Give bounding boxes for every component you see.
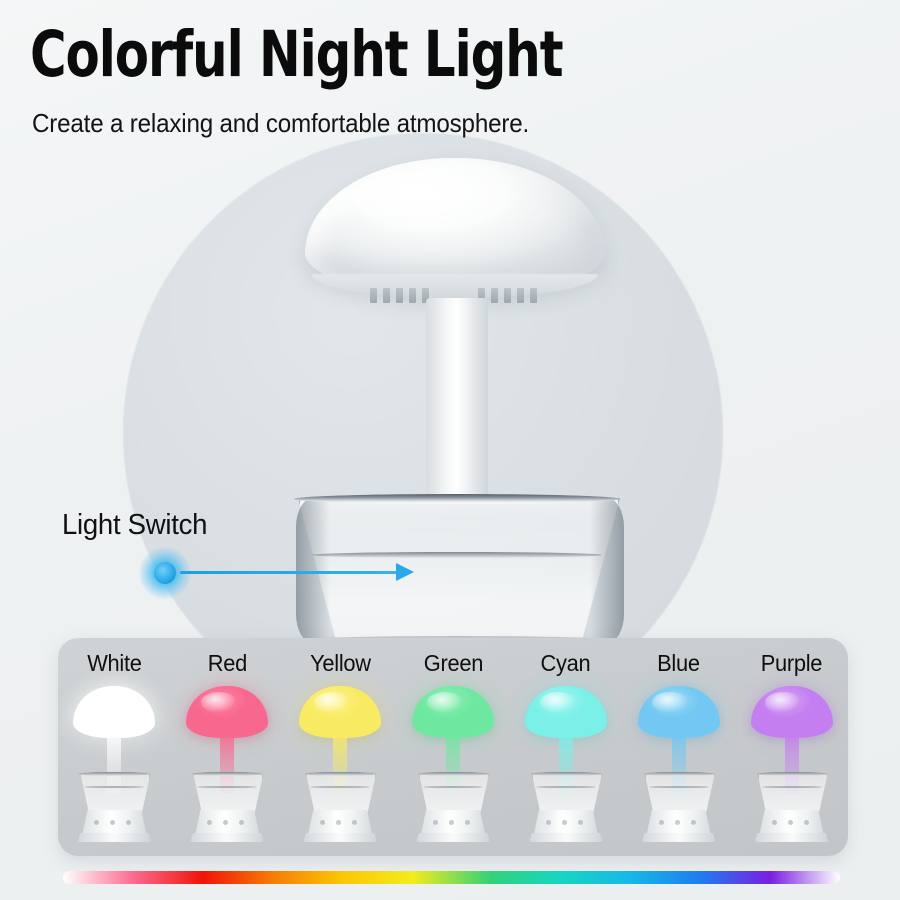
mini-wl <box>84 786 144 788</box>
mini-humidifier <box>290 686 390 846</box>
mini-wl <box>310 786 370 788</box>
page-subtitle: Create a relaxing and comfortable atmosp… <box>32 108 813 139</box>
mini-humidifier <box>403 686 503 846</box>
color-swatch-label: White <box>61 650 168 677</box>
color-swatch-green[interactable]: Green <box>397 638 510 856</box>
mini-wl <box>536 786 596 788</box>
mini-rim <box>191 772 263 776</box>
mini-rim <box>530 772 602 776</box>
mini-tank <box>306 774 376 812</box>
mini-wl <box>423 786 483 788</box>
mini-foot <box>755 833 829 842</box>
mini-tank <box>532 774 602 812</box>
mini-foot <box>642 833 716 842</box>
cloud-cap <box>305 158 605 293</box>
mini-tank <box>419 774 489 812</box>
color-swatch-cyan[interactable]: Cyan <box>509 638 622 856</box>
mini-tank <box>193 774 263 812</box>
mini-rim <box>756 772 828 776</box>
mini-humidifier <box>64 686 164 846</box>
page-title: Colorful Night Light <box>30 22 769 89</box>
mini-tank <box>80 774 150 812</box>
mini-cap <box>412 686 494 738</box>
color-swatch-label: Green <box>399 650 506 677</box>
color-swatch-label: Blue <box>625 650 732 677</box>
mini-wl <box>762 786 822 788</box>
mini-tank <box>645 774 715 812</box>
product-feature-image: Colorful Night Light Create a relaxing a… <box>0 0 900 900</box>
mini-cap <box>73 686 155 738</box>
mini-foot <box>529 833 603 842</box>
color-swatch-panel: WhiteRedYellowGreenCyanBluePurple <box>58 638 848 856</box>
mini-humidifier <box>177 686 277 846</box>
mini-foot <box>190 833 264 842</box>
mini-control-dots <box>207 820 247 826</box>
mini-cap <box>638 686 720 738</box>
color-swatch-label: Cyan <box>512 650 619 677</box>
callout-line <box>180 571 402 574</box>
water-level-line <box>312 552 602 558</box>
light-switch-label: Light Switch <box>62 509 207 542</box>
mini-rim <box>78 772 150 776</box>
mini-control-dots <box>772 820 812 826</box>
mini-rim <box>304 772 376 776</box>
mini-humidifier <box>629 686 729 846</box>
mini-cap <box>751 686 833 738</box>
mini-foot <box>303 833 377 842</box>
mini-rim <box>417 772 489 776</box>
mini-humidifier <box>516 686 616 846</box>
mini-rim <box>643 772 715 776</box>
mini-cap <box>299 686 381 738</box>
mini-control-dots <box>546 820 586 826</box>
mini-tank <box>758 774 828 812</box>
mini-foot <box>77 833 151 842</box>
mini-control-dots <box>433 820 473 826</box>
tank-rim <box>294 494 620 504</box>
color-swatch-white[interactable]: White <box>58 638 171 856</box>
mini-humidifier <box>742 686 842 846</box>
product-illustration <box>250 140 670 640</box>
color-swatch-red[interactable]: Red <box>171 638 284 856</box>
mini-wl <box>197 786 257 788</box>
color-spectrum-bar <box>63 871 840 884</box>
tank-glass-right <box>590 498 624 643</box>
mini-control-dots <box>94 820 134 826</box>
color-swatch-blue[interactable]: Blue <box>622 638 735 856</box>
mini-cap <box>186 686 268 738</box>
color-swatch-yellow[interactable]: Yellow <box>284 638 397 856</box>
mini-foot <box>416 833 490 842</box>
mini-wl <box>649 786 709 788</box>
color-swatch-label: Red <box>174 650 281 677</box>
color-swatch-label: Yellow <box>287 650 394 677</box>
color-swatch-purple[interactable]: Purple <box>735 638 848 856</box>
color-swatch-label: Purple <box>738 650 845 677</box>
callout-arrow-icon <box>396 563 414 581</box>
mini-control-dots <box>320 820 360 826</box>
mini-control-dots <box>659 820 699 826</box>
mini-cap <box>525 686 607 738</box>
product-stem <box>426 298 488 503</box>
